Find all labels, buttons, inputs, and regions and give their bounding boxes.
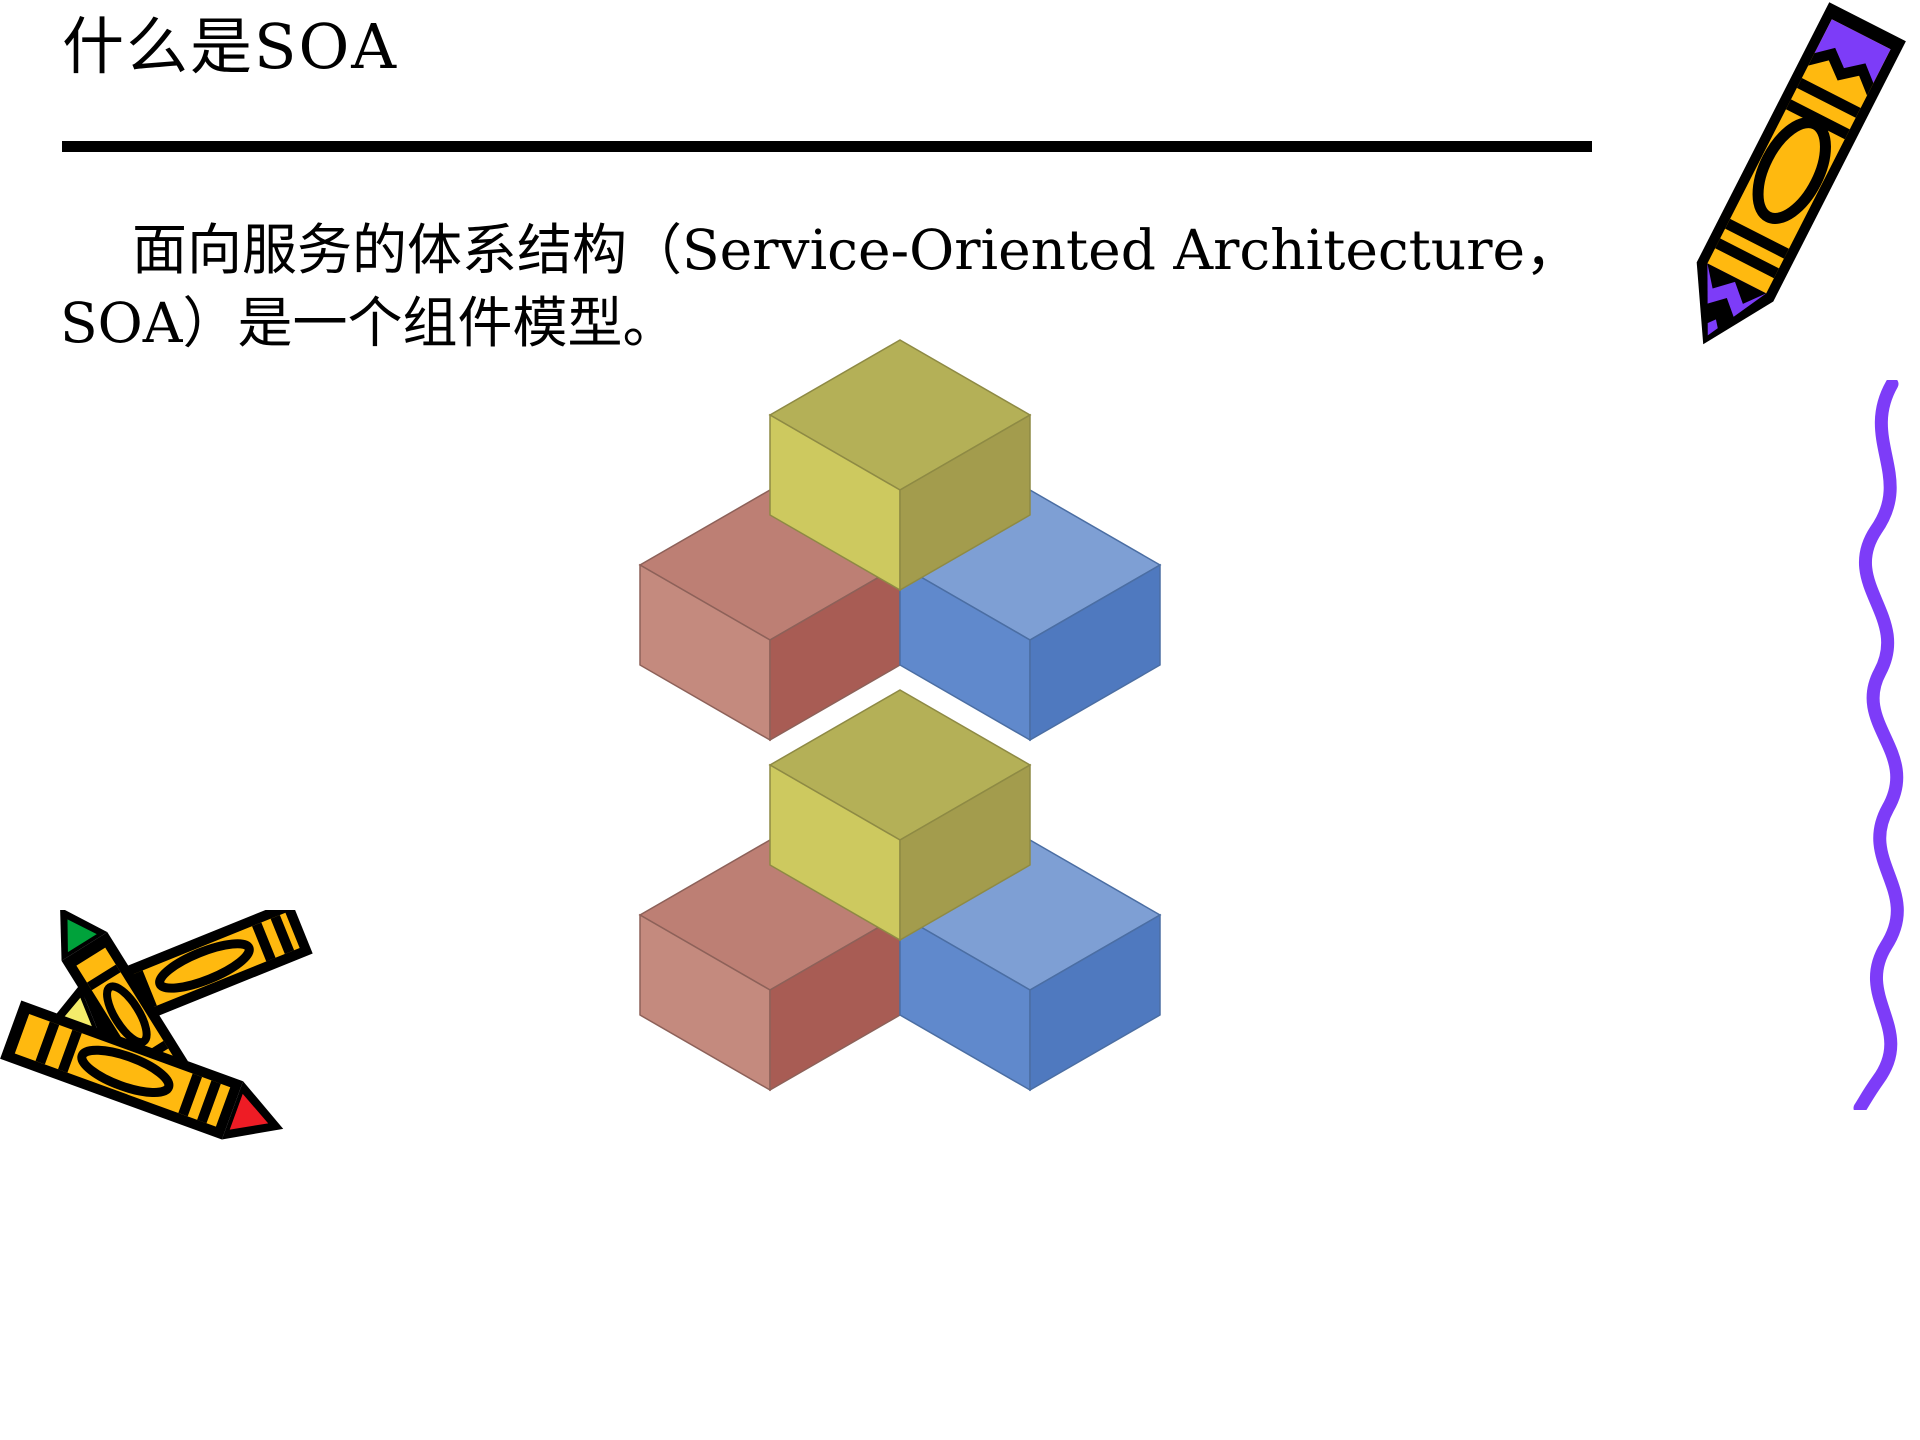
isometric-cube-illustration bbox=[600, 300, 1300, 1140]
page-title: 什么是SOA bbox=[62, 14, 1622, 81]
title-divider bbox=[62, 141, 1592, 152]
crayon-icon bbox=[1630, 0, 1920, 382]
squiggle-line-icon bbox=[1830, 380, 1920, 1110]
crayon-pair-icon bbox=[0, 910, 352, 1170]
title-block: 什么是SOA bbox=[62, 14, 1622, 81]
presentation-slide: 什么是SOA 面向服务的体系结构（Service-Oriented Archit… bbox=[0, 0, 1920, 1440]
